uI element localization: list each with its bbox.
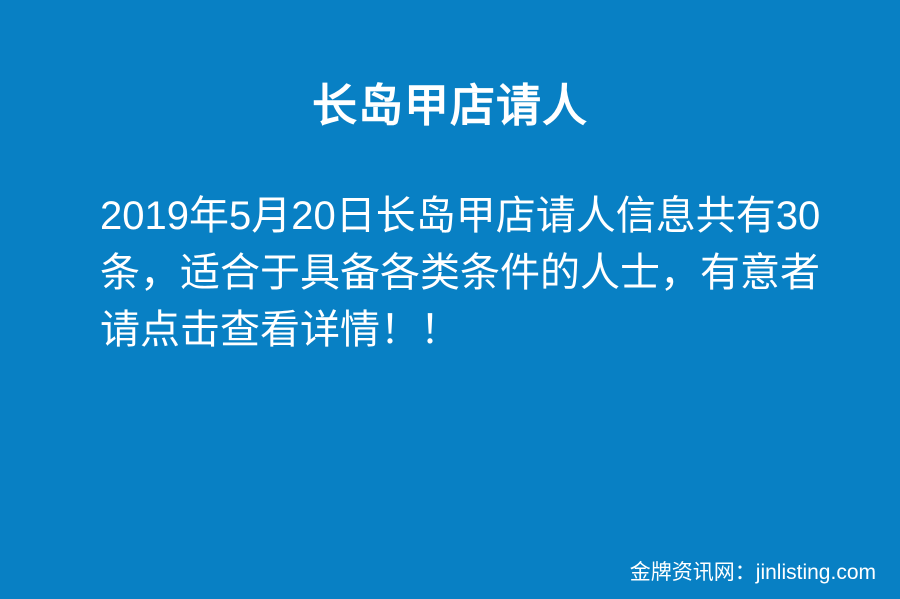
poster-body-text: 2019年5月20日长岛甲店请人信息共有30条，适合于具备各类条件的人士，有意者… bbox=[100, 188, 838, 358]
page-title: 长岛甲店请人 bbox=[0, 78, 900, 134]
promo-poster: 长岛甲店请人 2019年5月20日长岛甲店请人信息共有30条，适合于具备各类条件… bbox=[0, 0, 900, 599]
site-watermark: 金牌资讯网：jinlisting.com bbox=[630, 558, 876, 587]
